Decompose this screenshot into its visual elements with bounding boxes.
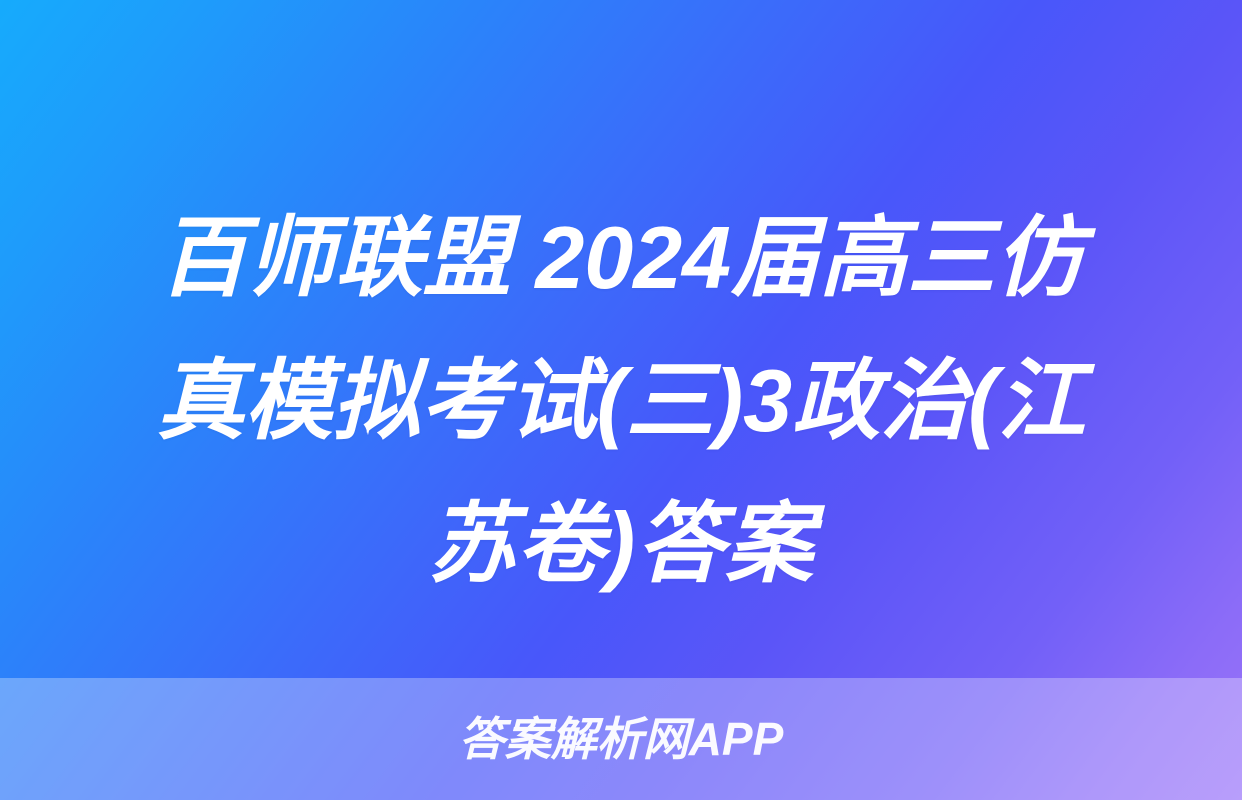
page-title: 百师联盟 2024届高三仿 真模拟考试(三)3政治(江 苏卷)答案 xyxy=(78,186,1164,615)
watermark-band: 答案解析网APP xyxy=(0,678,1242,800)
title-line-2: 真模拟考试(三)3政治(江 xyxy=(78,329,1164,472)
title-line-1: 百师联盟 2024届高三仿 xyxy=(78,186,1164,329)
watermark-label: 答案解析网APP xyxy=(459,716,784,762)
cover-card: 百师联盟 2024届高三仿 真模拟考试(三)3政治(江 苏卷)答案 答案解析网A… xyxy=(0,0,1242,800)
title-line-3: 苏卷)答案 xyxy=(78,472,1164,615)
